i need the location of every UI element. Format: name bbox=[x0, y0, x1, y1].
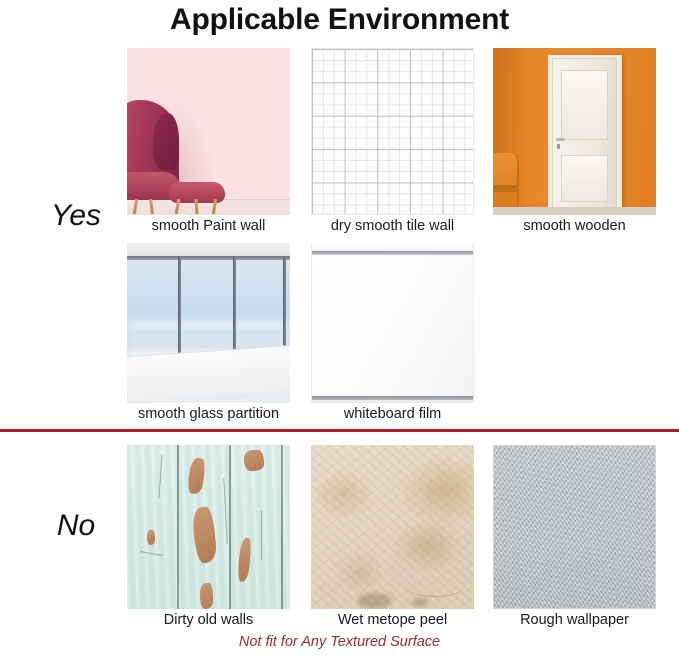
sample-cell-rough-wallpaper: Rough wallpaper bbox=[493, 445, 656, 609]
peeled-paint-patch bbox=[147, 530, 155, 545]
footer-warning-note: Not fit for Any Textured Surface bbox=[0, 634, 679, 650]
sample-image-dry-smooth-tile-wall bbox=[311, 48, 474, 215]
sample-caption: dry smooth tile wall bbox=[291, 218, 494, 234]
sample-cell-whiteboard-film: whiteboard film bbox=[311, 243, 474, 403]
damp-stain bbox=[357, 593, 393, 609]
orange-chair-arm bbox=[493, 185, 517, 192]
whiteboard-bottom-edge bbox=[312, 400, 473, 403]
orange-chair bbox=[493, 153, 519, 206]
armchair-wing bbox=[153, 113, 179, 170]
orange-wall-door-illustration bbox=[493, 48, 656, 215]
sample-caption: smooth Paint wall bbox=[107, 218, 310, 234]
damp-plaster-illustration bbox=[311, 445, 474, 609]
pink-paint-wall-illustration bbox=[127, 48, 290, 215]
peeled-paint-patch bbox=[200, 583, 213, 609]
door-panel-top bbox=[561, 70, 608, 140]
sample-image-smooth-wooden bbox=[493, 48, 656, 215]
sample-cell-smooth-wooden: smooth wooden bbox=[493, 48, 656, 215]
whiteboard-top-edge bbox=[312, 243, 473, 251]
sample-image-smooth-paint-wall bbox=[127, 48, 290, 215]
whiteboard-film-illustration bbox=[311, 243, 474, 403]
white-door bbox=[552, 58, 617, 215]
whiteboard-top-rail bbox=[312, 251, 473, 255]
peeled-paint-patch bbox=[191, 506, 217, 563]
sample-image-whiteboard-film bbox=[311, 243, 474, 403]
floor-strip bbox=[493, 207, 656, 215]
sample-caption: Rough wallpaper bbox=[473, 612, 676, 628]
frame-header-rail bbox=[127, 256, 290, 260]
sample-image-wet-metope-peel bbox=[311, 445, 474, 609]
surface-crack bbox=[140, 551, 163, 556]
sample-cell-smooth-paint-wall: smooth Paint wall bbox=[127, 48, 290, 215]
sample-caption: whiteboard film bbox=[291, 406, 494, 422]
tile-grid-illustration bbox=[311, 48, 474, 215]
section-label-no: No bbox=[28, 509, 124, 543]
sample-cell-dirty-old-walls: Dirty old walls bbox=[127, 445, 290, 609]
peeled-paint-patch bbox=[237, 538, 253, 583]
section-divider bbox=[0, 429, 679, 432]
door-handle bbox=[556, 138, 564, 141]
cloud-band bbox=[127, 336, 290, 342]
door-keyhole bbox=[557, 144, 560, 149]
cloud-band bbox=[127, 320, 290, 331]
sample-caption: Wet metope peel bbox=[291, 612, 494, 628]
hairline-crack bbox=[406, 576, 465, 597]
sample-image-rough-wallpaper bbox=[493, 445, 656, 609]
glass-partition-illustration bbox=[127, 243, 290, 403]
page-title: Applicable Environment bbox=[0, 0, 679, 40]
sample-caption: smooth glass partition bbox=[107, 406, 310, 422]
peeling-paint-planks-illustration bbox=[127, 445, 290, 609]
peeled-paint-patch bbox=[244, 450, 264, 471]
sample-caption: Dirty old walls bbox=[107, 612, 310, 628]
sample-image-dirty-old-walls bbox=[127, 445, 290, 609]
sample-cell-dry-smooth-tile-wall: dry smooth tile wall bbox=[311, 48, 474, 215]
sample-image-smooth-glass-partition bbox=[127, 243, 290, 403]
door-panel-bottom bbox=[561, 155, 608, 201]
sample-caption: smooth wooden bbox=[473, 218, 676, 234]
sample-cell-wet-metope-peel: Wet metope peel bbox=[311, 445, 474, 609]
sample-cell-smooth-glass-partition: smooth glass partition bbox=[127, 243, 290, 403]
peeled-paint-patch bbox=[186, 457, 206, 495]
surface-crack bbox=[158, 455, 162, 498]
surface-crack bbox=[223, 478, 227, 544]
rough-wallpaper-illustration bbox=[493, 445, 656, 609]
surface-crack bbox=[261, 511, 262, 560]
